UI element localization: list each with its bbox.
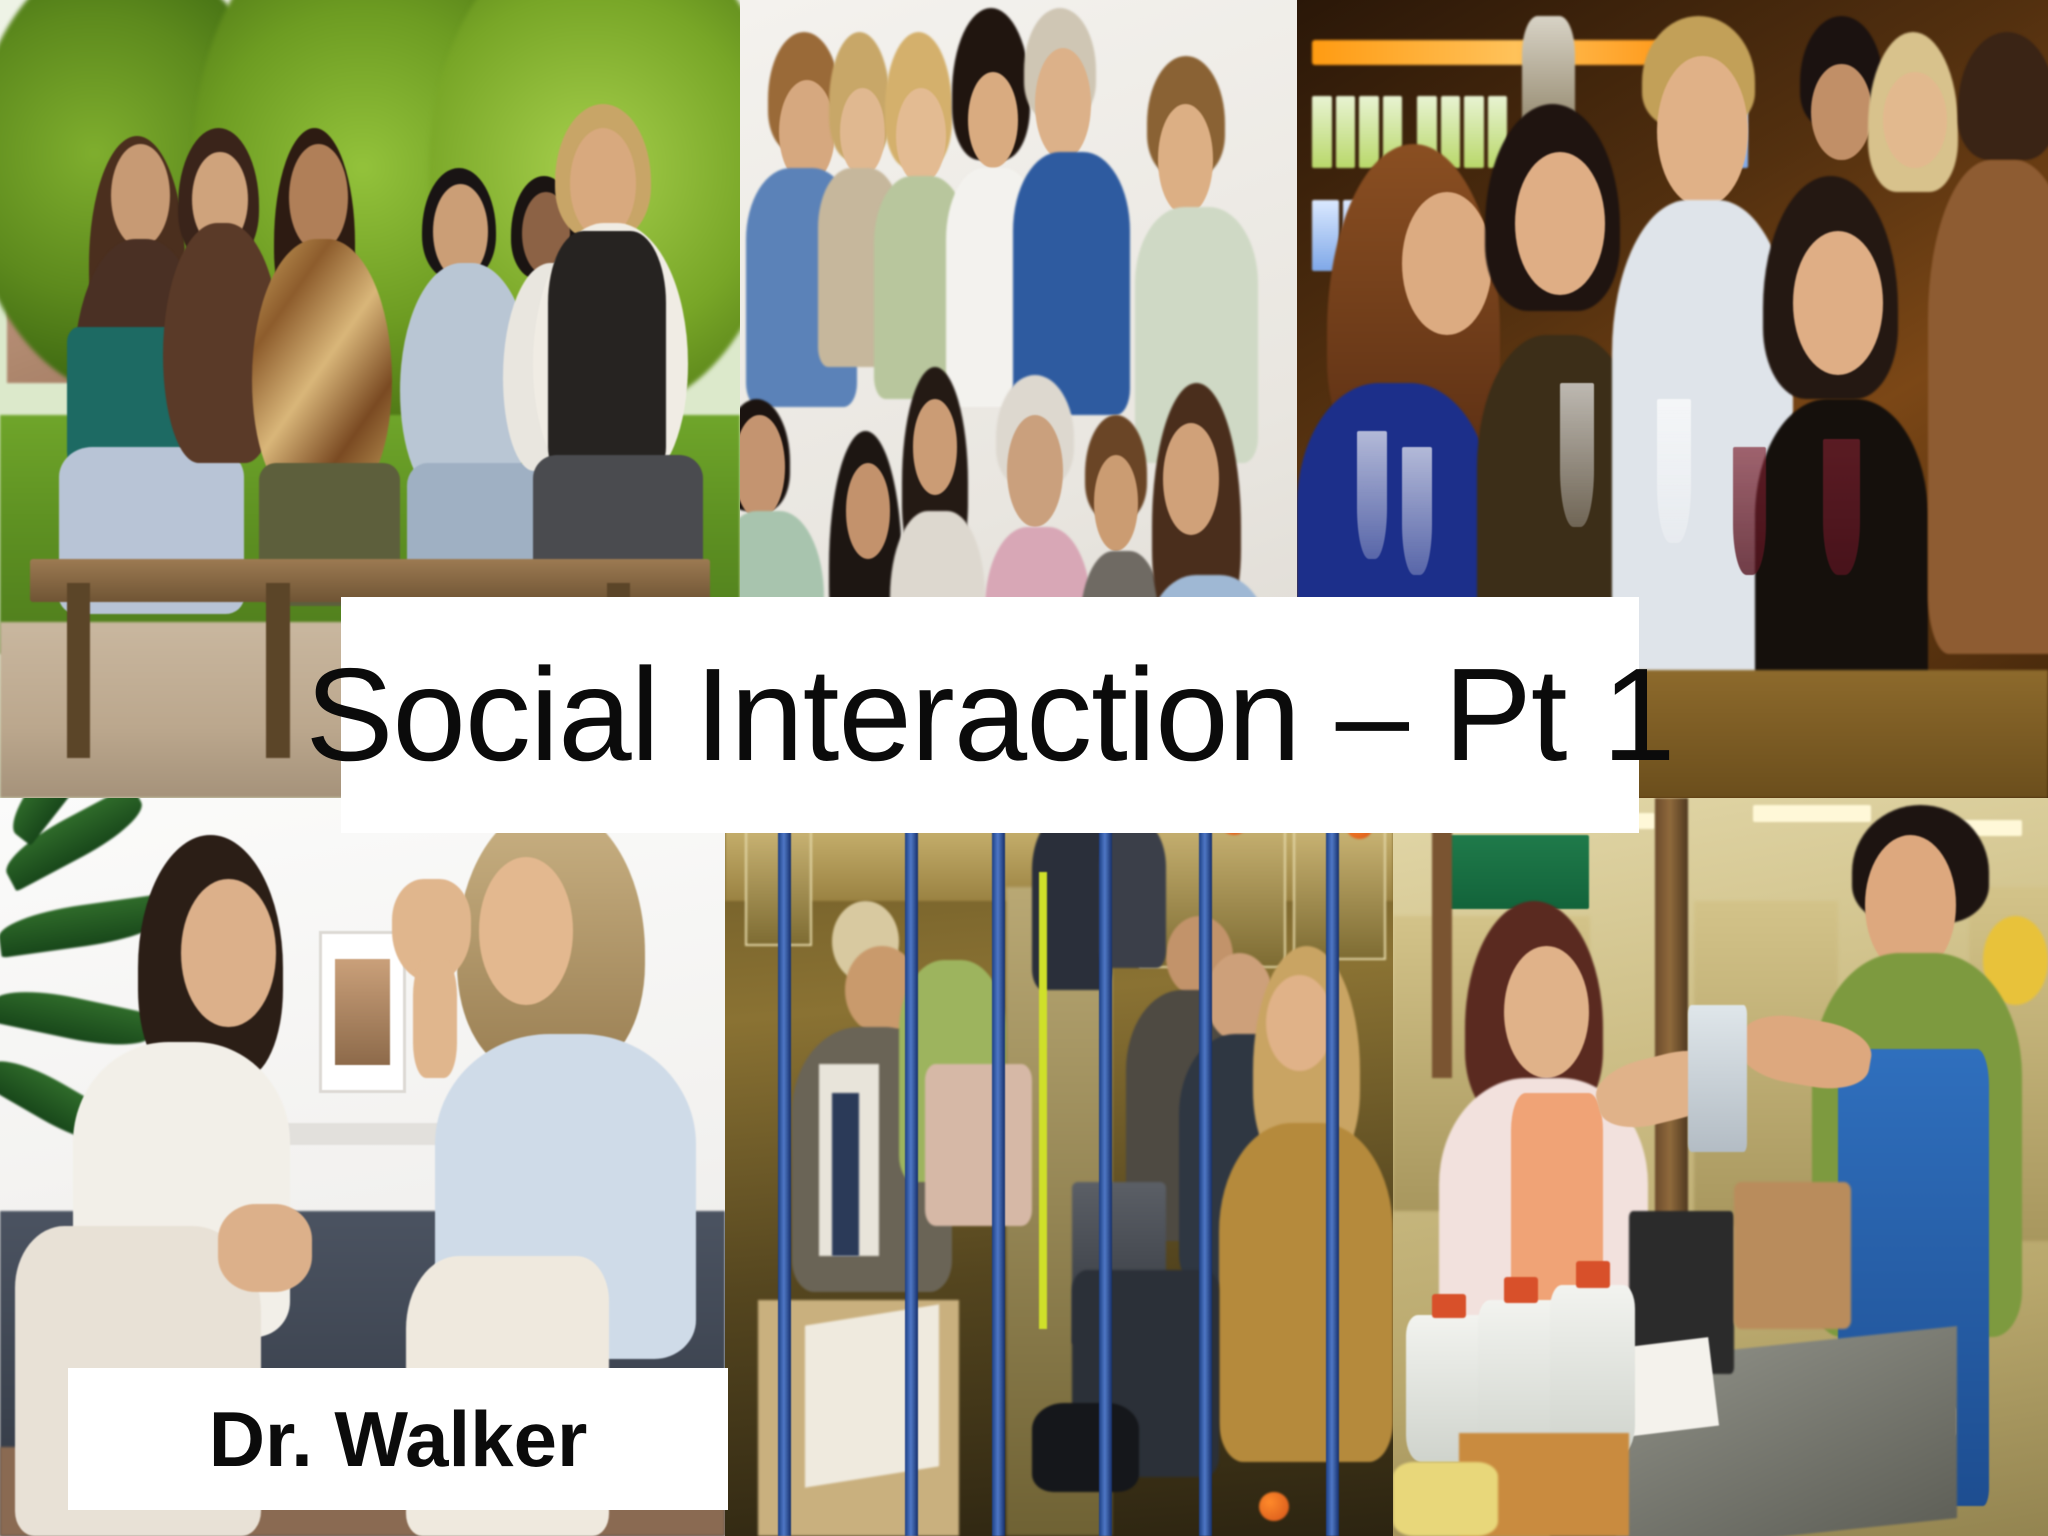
photo-subway-passengers (725, 798, 1393, 1536)
presentation-slide: Social Interaction – Pt 1 Dr. Walker (0, 0, 2048, 1536)
photo-grocery-checkout (1393, 798, 2048, 1536)
slide-author-plate: Dr. Walker (68, 1368, 728, 1510)
slide-title: Social Interaction – Pt 1 (305, 649, 1674, 781)
slide-title-plate: Social Interaction – Pt 1 (341, 597, 1639, 833)
slide-author: Dr. Walker (209, 1400, 588, 1478)
